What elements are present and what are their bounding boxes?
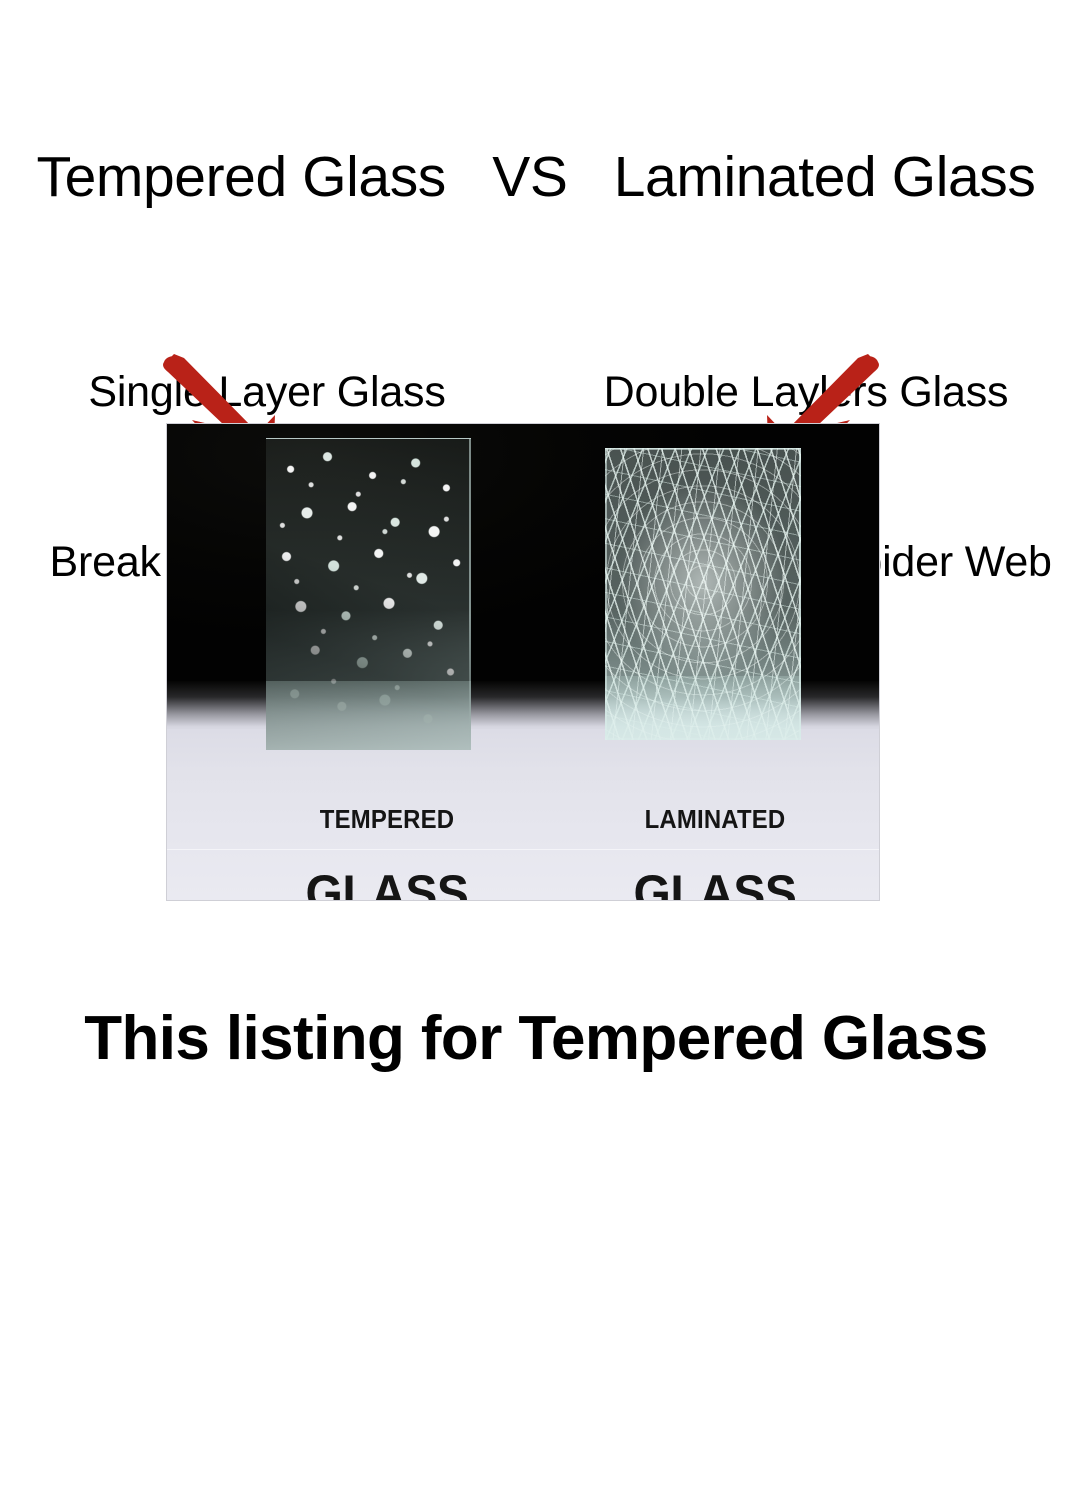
photo-label-tempered-top: TEMPERED xyxy=(240,806,534,832)
comparison-photo: TEMPERED GLASS LAMINATED GLASS xyxy=(166,423,880,901)
photo-label-tempered-bottom: GLASS xyxy=(233,868,540,901)
page-title: Tempered Glass VS Laminated Glass xyxy=(0,148,1072,208)
photo-label-tempered: TEMPERED GLASS xyxy=(227,774,547,901)
photo-label-laminated: LAMINATED GLASS xyxy=(555,774,875,901)
tempered-panel-base xyxy=(266,681,471,750)
tempered-glass-panel xyxy=(266,438,471,750)
listing-statement: This listing for Tempered Glass xyxy=(0,1003,1072,1074)
photo-label-laminated-top: LAMINATED xyxy=(568,806,862,832)
laminated-panel-base xyxy=(605,676,801,740)
laminated-glass-panel xyxy=(605,448,801,740)
photo-label-laminated-bottom: GLASS xyxy=(561,868,868,901)
